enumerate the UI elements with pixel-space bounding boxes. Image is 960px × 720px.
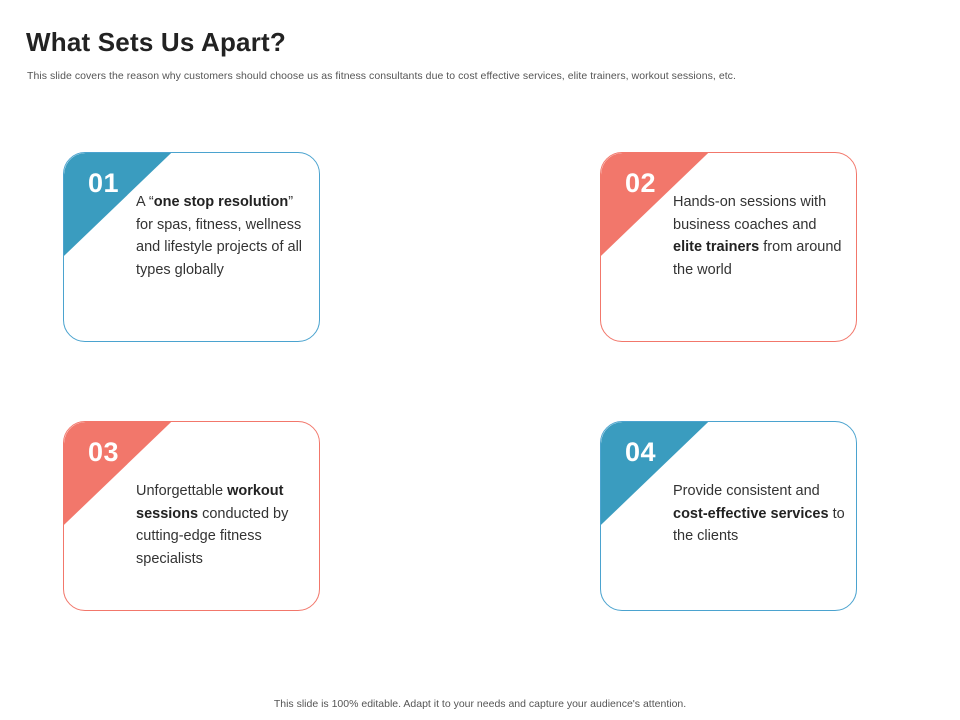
card-number-02: 02	[625, 168, 656, 199]
card-text-03: Unforgettable workout sessions conducted…	[136, 480, 308, 570]
card-text-01: A “one stop resolution” for spas, fitnes…	[136, 191, 308, 281]
card-number-01: 01	[88, 168, 119, 199]
feature-card-03[interactable]: 03 Unforgettable workout sessions conduc…	[63, 421, 320, 611]
page-subtitle: This slide covers the reason why custome…	[27, 70, 927, 82]
footer-note: This slide is 100% editable. Adapt it to…	[0, 698, 960, 710]
card-text-04: Provide consistent and cost-effective se…	[673, 480, 845, 548]
feature-card-04[interactable]: 04 Provide consistent and cost-effective…	[600, 421, 857, 611]
card-number-03: 03	[88, 437, 119, 468]
feature-card-01[interactable]: 01 A “one stop resolution” for spas, fit…	[63, 152, 320, 342]
card-number-04: 04	[625, 437, 656, 468]
feature-card-02[interactable]: 02 Hands-on sessions with business coach…	[600, 152, 857, 342]
page-title: What Sets Us Apart?	[26, 27, 286, 58]
card-text-02: Hands-on sessions with business coaches …	[673, 191, 845, 281]
slide-canvas: What Sets Us Apart? This slide covers th…	[0, 0, 960, 720]
